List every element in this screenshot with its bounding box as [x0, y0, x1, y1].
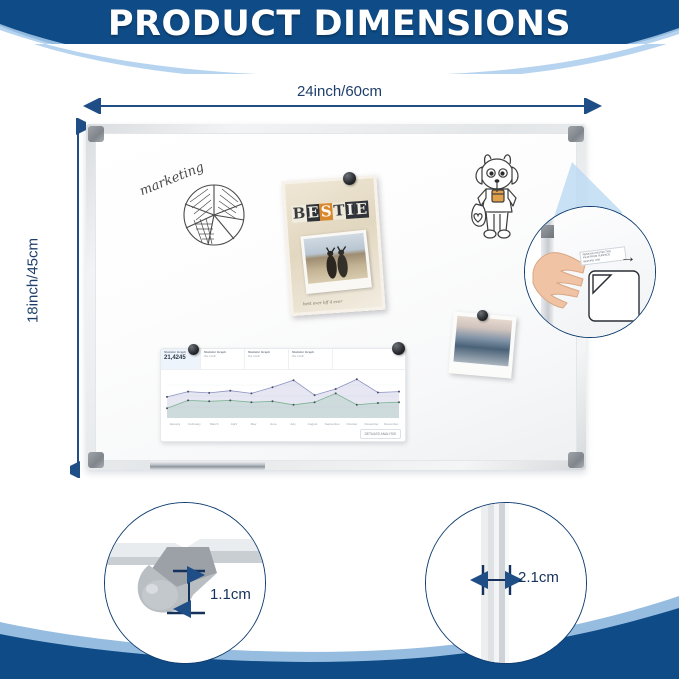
page-title: PRODUCT DIMENSIONS: [0, 4, 679, 44]
frame-thickness-inset: [425, 502, 587, 664]
chart-svg: [161, 370, 405, 422]
corner-cap-top-left: [88, 126, 104, 142]
poster-letter: B: [291, 205, 307, 223]
poster-photo-image: [304, 233, 368, 284]
magnet-chart-right[interactable]: [392, 342, 405, 355]
magnet-poster[interactable]: [343, 172, 356, 185]
chart-tab-sub: this month: [248, 355, 285, 358]
chart-x-tick: June: [263, 422, 283, 432]
bestie-collage-poster: BESTIE best ever bff 4 ever: [281, 175, 385, 316]
chart-x-tick: October: [342, 422, 362, 432]
chart-x-tick: February: [185, 422, 205, 432]
chart-x-tick: January: [165, 422, 185, 432]
frame-measure-label: 2.1cm: [518, 569, 559, 586]
chart-tab[interactable]: Statistic Graph this month: [245, 349, 289, 369]
poster-caption: best ever bff 4 ever: [303, 299, 343, 307]
chart-x-tick: September: [322, 422, 342, 432]
height-dimension-label: 18inch/45cm: [25, 221, 42, 341]
chart-x-tick: April: [224, 422, 244, 432]
frame-thickness-illustration: [426, 503, 586, 663]
chart-x-tick: July: [283, 422, 303, 432]
poster-letter: E: [306, 204, 321, 222]
pen-tray: [150, 461, 265, 470]
detailed-analysis-button[interactable]: DETAILED ANALYSIS: [360, 429, 401, 439]
protective-film-callout: REMOVE PROTECTIVE FILM FROM SURFACE BEFO…: [524, 206, 656, 338]
film-sheet-icon: [587, 269, 643, 325]
corner-detail-inset: [104, 502, 266, 664]
corner-detail-illustration: [105, 503, 265, 663]
chart-x-tick: May: [244, 422, 264, 432]
poster-headline: BESTIE: [291, 200, 378, 228]
poster-letter: E: [354, 201, 369, 219]
peel-arrow-icon: →: [620, 249, 636, 267]
marketing-doodle: marketing: [138, 158, 268, 253]
magnet-polaroid[interactable]: [477, 310, 488, 321]
poster-letter: T: [332, 202, 346, 220]
corner-cap-top-right: [568, 126, 584, 142]
statistics-chart-card: Statistic Graph 21,4245 Statistic Graph …: [160, 348, 406, 442]
chart-x-tick: March: [204, 422, 224, 432]
callout-corner-cap: [541, 225, 554, 238]
chart-x-tick: August: [303, 422, 323, 432]
corner-cap-bottom-right: [568, 452, 584, 468]
top-banner: PRODUCT DIMENSIONS: [0, 0, 679, 74]
height-dimension-arrow: [70, 118, 86, 478]
product-dimensions-infographic: PRODUCT DIMENSIONS 24inch/60cm 18inch/45…: [0, 0, 679, 679]
width-dimension-arrow: [0, 98, 679, 114]
poster-letter: S: [319, 203, 333, 221]
poster-photo: [300, 230, 372, 295]
corner-cap-bottom-left: [88, 452, 104, 468]
chart-tab-sub: this month: [292, 355, 329, 358]
chart-tab[interactable]: Statistic Graph this month: [289, 349, 333, 369]
corner-measure-label: 1.1cm: [210, 586, 251, 603]
magnet-chart-left[interactable]: [188, 344, 199, 355]
chart-tab[interactable]: Statistic Graph this month: [201, 349, 245, 369]
chart-plot-area: [161, 370, 405, 422]
chart-tab-sub: this month: [204, 355, 241, 358]
chart-kpi-value: 21,4245: [164, 355, 197, 363]
